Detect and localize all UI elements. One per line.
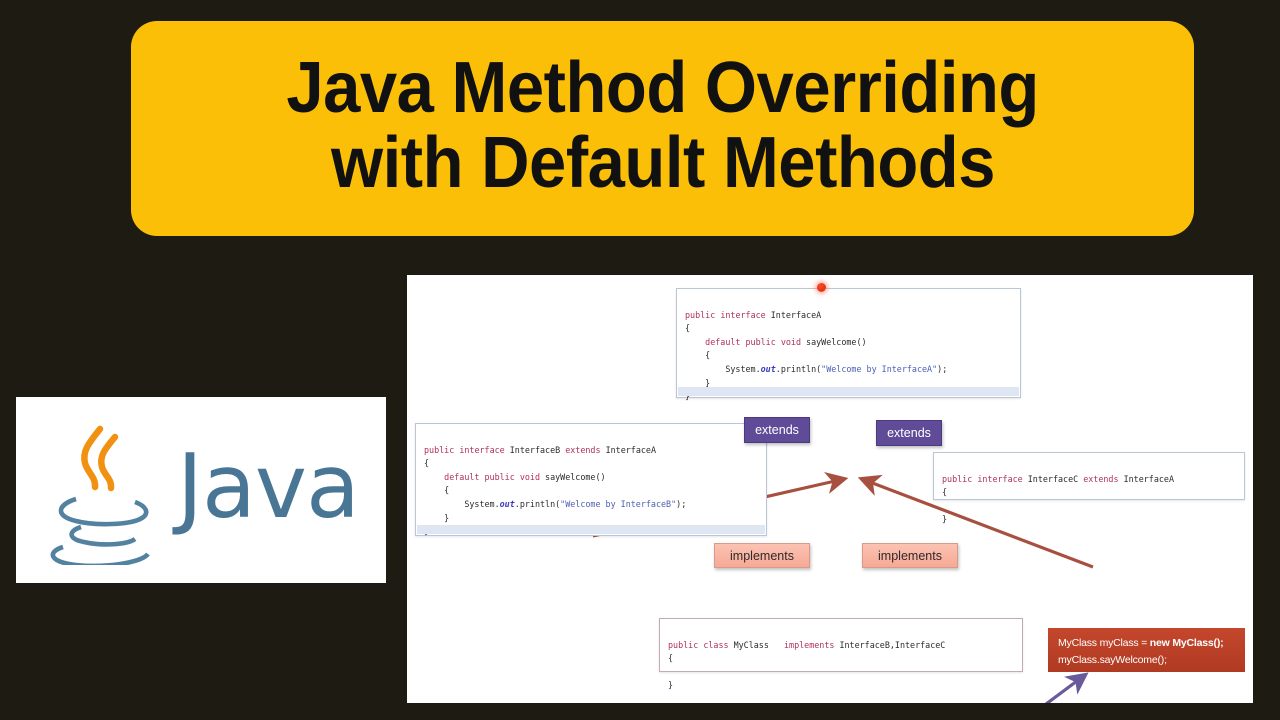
- code-box-interface-a: public interface InterfaceA { default pu…: [676, 288, 1021, 398]
- code-box-interface-c: public interface InterfaceC extends Inte…: [933, 452, 1245, 500]
- usage-line-2: myClass.sayWelcome();: [1058, 652, 1235, 669]
- java-logo-card: Java: [16, 397, 386, 583]
- code-box-my-class: public class MyClass implements Interfac…: [659, 618, 1023, 672]
- code-box-interface-b: public interface InterfaceB extends Inte…: [415, 423, 767, 536]
- label-extends-left: extends: [744, 417, 810, 443]
- class-diagram-panel: public interface InterfaceA { default pu…: [407, 275, 1253, 703]
- slide-canvas: Java Method Overriding with Default Meth…: [0, 0, 1280, 720]
- code-box-footer-band: [678, 387, 1019, 396]
- label-implements-right: implements: [862, 543, 958, 568]
- title-banner: Java Method Overriding with Default Meth…: [131, 21, 1194, 236]
- usage-line-1: MyClass myClass = new MyClass();: [1058, 635, 1235, 652]
- usage-callout: MyClass myClass = new MyClass(); myClass…: [1048, 628, 1245, 672]
- label-implements-left: implements: [714, 543, 810, 568]
- arrow-implements-myclass-to-c: [861, 675, 1085, 703]
- java-wordmark: Java: [177, 443, 359, 537]
- code-box-footer-band: [417, 525, 765, 534]
- java-cup-icon: [43, 415, 161, 565]
- page-title-line-2: with Default Methods: [330, 126, 994, 200]
- label-extends-right: extends: [876, 420, 942, 446]
- error-marker-icon: [817, 283, 826, 292]
- page-title-line-1: Java Method Overriding: [286, 51, 1039, 125]
